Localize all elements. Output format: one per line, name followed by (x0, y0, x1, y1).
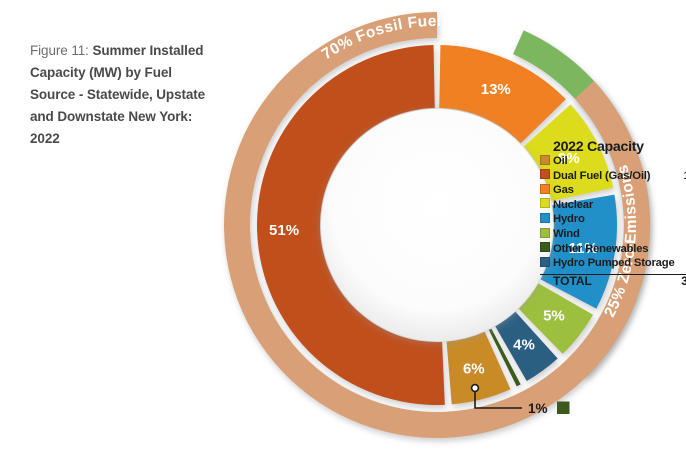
inner-ring-pct-gas: 13% (481, 81, 511, 98)
inner-ring-pct-dual-fuel-gas-oil-: 51% (269, 222, 299, 239)
legend-swatch-cell (540, 169, 553, 184)
legend-swatch-nuclear (540, 198, 550, 208)
legend-row: Nuclear3,341 (540, 198, 686, 213)
legend-total-swatch-cell (540, 275, 553, 289)
legend-value: 4,718 (680, 184, 686, 199)
legend-row: Dual Fuel (Gas/Oil)19,296 (540, 169, 686, 184)
inner-ring-pct-hydro-pumped-storage: 4% (513, 337, 535, 354)
legend-header-label: 2022 Capacity (553, 141, 680, 155)
figure-caption: Figure 11: Summer Installed Capacity (MW… (30, 40, 220, 150)
inner-ring-pct-wind: 5% (543, 308, 565, 325)
legend-row: Other Renewables378 (540, 242, 686, 257)
legend-swatch-hydro (540, 213, 550, 223)
legend-swatch-cell (540, 198, 553, 213)
legend-swatch-cell (540, 257, 553, 272)
legend-swatch-gas (540, 184, 550, 194)
legend-label: Hydro (553, 213, 680, 228)
legend-label: Oil (553, 155, 680, 170)
legend-label: Gas (553, 184, 680, 199)
legend-swatch-cell (540, 184, 553, 199)
legend-header-swatch-cell (540, 141, 553, 155)
legend-total-value: 37,520 (680, 275, 686, 289)
legend-label: Hydro Pumped Storage (553, 257, 680, 272)
legend-row: Hydro4,274 (540, 213, 686, 228)
legend-table: 2022 Capacity MW Oil2,288Dual Fuel (Gas/… (540, 141, 686, 289)
legend-swatch-hydro-pumped-storage (540, 257, 550, 267)
legend-value: 1,409 (680, 257, 686, 272)
legend-swatch-cell (540, 242, 553, 257)
figure-label: Figure 11: (30, 43, 89, 58)
legend-value: 2,288 (680, 155, 686, 170)
legend-value: 3,341 (680, 198, 686, 213)
legend-swatch-dual-fuel-gas-oil- (540, 169, 550, 179)
inner-ring-pct-oil: 6% (463, 360, 485, 377)
legend-swatch-cell (540, 228, 553, 243)
legend-header-row: 2022 Capacity MW (540, 141, 686, 155)
legend-row: Hydro Pumped Storage1,409 (540, 257, 686, 272)
figure-root: Figure 11: Summer Installed Capacity (MW… (0, 0, 686, 461)
legend-total-row: TOTAL37,520 (540, 275, 686, 289)
callout-label: 1% (528, 401, 548, 416)
legend-label: Dual Fuel (Gas/Oil) (553, 169, 680, 184)
legend-swatch-other-renewables (540, 242, 550, 252)
legend-row: Oil2,288 (540, 155, 686, 170)
legend-card: 2022 Capacity MW Oil2,288Dual Fuel (Gas/… (540, 141, 686, 289)
legend-swatch-cell (540, 213, 553, 228)
legend-value: 1,818 (680, 228, 686, 243)
legend-value: 19,296 (680, 169, 686, 184)
legend-swatch-oil (540, 155, 550, 165)
center-disc (321, 109, 553, 341)
legend-row: Gas4,718 (540, 184, 686, 199)
legend-header-unit: MW (680, 141, 686, 155)
callout-anchor-dot (472, 385, 479, 392)
legend-value: 4,274 (680, 213, 686, 228)
callout-swatch (557, 402, 570, 415)
legend-value: 378 (680, 242, 686, 257)
legend-label: Other Renewables (553, 242, 680, 257)
legend-swatch-wind (540, 228, 550, 238)
legend-swatch-cell (540, 155, 553, 170)
legend-label: Wind (553, 228, 680, 243)
legend-label: Nuclear (553, 198, 680, 213)
donut-chart: 70% Fossil Fuels25% Zero-Emissions 13%9%… (196, 0, 686, 466)
legend-row: Wind1,818 (540, 228, 686, 243)
legend-total-label: TOTAL (553, 275, 680, 289)
figure-title: Summer Installed Capacity (MW) by Fuel S… (30, 43, 205, 146)
